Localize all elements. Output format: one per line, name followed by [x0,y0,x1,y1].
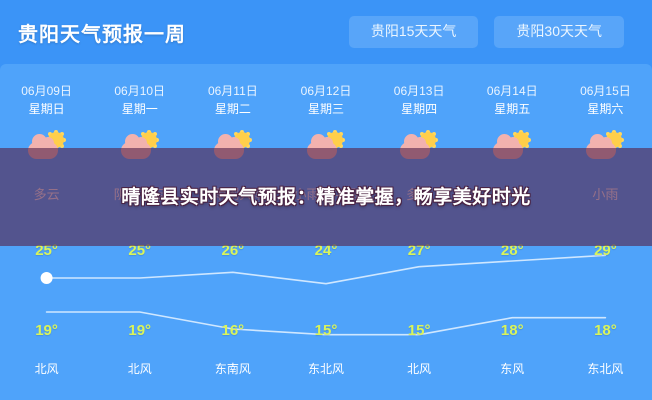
wind-cell-1: 北风 [93,360,186,378]
low-temp-label: 18° [594,322,617,339]
page-header: 贵阳天气预报一周 贵阳15天天气 贵阳30天天气 [0,0,652,64]
date-label: 06月13日 [373,82,466,100]
low-temp-row: 19° 19° 16° 15° 15° 18° 18° [0,322,652,340]
date-row: 06月09日 星期日 06月10日 星期一 06月11日 星期二 06月12日 … [0,82,652,119]
wind-cell-3: 东北风 [279,360,372,378]
weekday-label: 星期六 [559,100,652,119]
current-day-marker [41,272,53,284]
date-label: 06月15日 [559,82,652,100]
date-label: 06月14日 [466,82,559,100]
header-button-group: 贵阳15天天气 贵阳30天天气 [349,16,634,47]
date-label: 06月10日 [93,82,186,100]
wind-cell-5: 东风 [466,360,559,378]
low-cell-2: 16° [186,322,279,340]
weekday-label: 星期二 [186,100,279,119]
wind-label: 北风 [407,362,431,376]
low-cell-6: 18° [559,322,652,340]
wind-cell-4: 北风 [373,360,466,378]
weekday-label: 星期日 [0,100,93,119]
wind-label: 东北风 [308,362,344,376]
page-title: 贵阳天气预报一周 [18,18,186,47]
low-temp-label: 15° [315,322,338,339]
wind-cell-6: 东北风 [559,360,652,378]
low-cell-1: 19° [93,322,186,340]
day-column-1[interactable]: 06月10日 星期一 [93,82,186,119]
btn-30day[interactable]: 贵阳30天天气 [494,16,624,47]
low-cell-4: 15° [373,322,466,340]
weekday-label: 星期三 [279,100,372,119]
wind-label: 东南风 [215,362,251,376]
date-label: 06月12日 [279,82,372,100]
wind-label: 北风 [128,362,152,376]
day-column-6[interactable]: 06月15日 星期六 [559,82,652,119]
day-column-0[interactable]: 06月09日 星期日 [0,82,93,119]
article-title: 晴隆县实时天气预报：精准掌握，畅享美好时光 [91,182,561,213]
wind-cell-2: 东南风 [186,360,279,378]
btn-15day[interactable]: 贵阳15天天气 [349,16,479,47]
wind-label: 北风 [35,362,59,376]
weather-forecast-page: 贵阳天气预报一周 贵阳15天天气 贵阳30天天气 06月09日 星期日 06月1… [0,0,652,400]
wind-row: 北风 北风 东南风 东北风 北风 东风 东北风 [0,360,652,378]
low-temp-label: 15° [408,322,431,339]
date-label: 06月11日 [186,82,279,100]
article-title-overlay: 晴隆县实时天气预报：精准掌握，畅享美好时光 [0,148,652,246]
date-label: 06月09日 [0,82,93,100]
low-cell-3: 15° [279,322,372,340]
day-column-2[interactable]: 06月11日 星期二 [186,82,279,119]
low-temp-label: 19° [128,322,151,339]
wind-label: 东北风 [587,362,623,376]
weekday-label: 星期五 [466,100,559,119]
low-temp-label: 19° [35,322,58,339]
wind-label: 东风 [500,362,524,376]
weekday-label: 星期一 [93,100,186,119]
day-column-4[interactable]: 06月13日 星期四 [373,82,466,119]
low-cell-0: 19° [0,322,93,340]
low-cell-5: 18° [466,322,559,340]
wind-cell-0: 北风 [0,360,93,378]
weekday-label: 星期四 [373,100,466,119]
low-temp-label: 18° [501,322,524,339]
day-column-3[interactable]: 06月12日 星期三 [279,82,372,119]
low-temp-label: 16° [222,322,245,339]
day-column-5[interactable]: 06月14日 星期五 [466,82,559,119]
